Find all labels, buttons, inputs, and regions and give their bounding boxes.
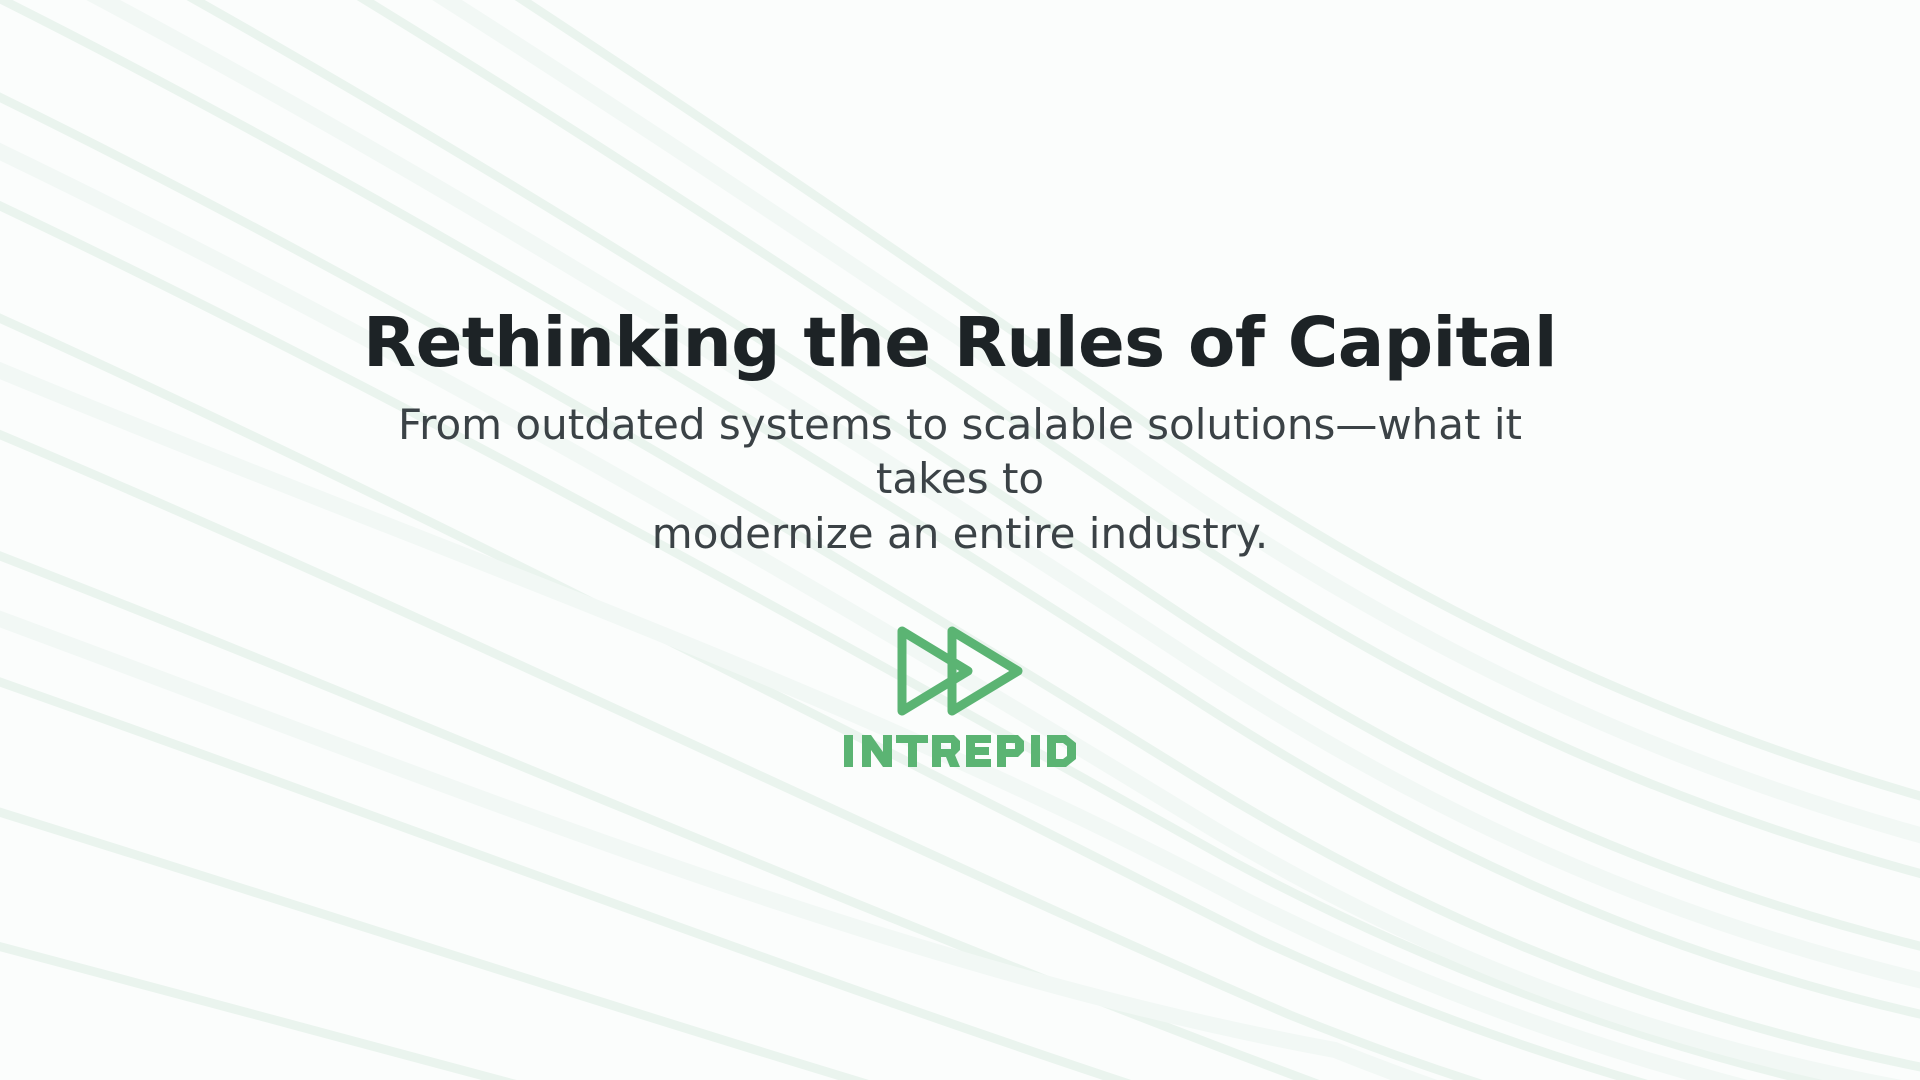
- subtitle-line-1: From outdated systems to scalable soluti…: [398, 400, 1522, 504]
- brand-wordmark: [844, 729, 1076, 773]
- title-slide: Rethinking the Rules of Capital From out…: [0, 0, 1920, 1080]
- page-subtitle: From outdated systems to scalable soluti…: [335, 398, 1585, 562]
- page-title: Rethinking the Rules of Capital: [363, 307, 1557, 380]
- brand-logo: [844, 623, 1076, 773]
- fast-forward-icon: [894, 623, 1026, 719]
- subtitle-line-2: modernize an entire industry.: [652, 509, 1268, 558]
- slide-content: Rethinking the Rules of Capital From out…: [0, 0, 1920, 1080]
